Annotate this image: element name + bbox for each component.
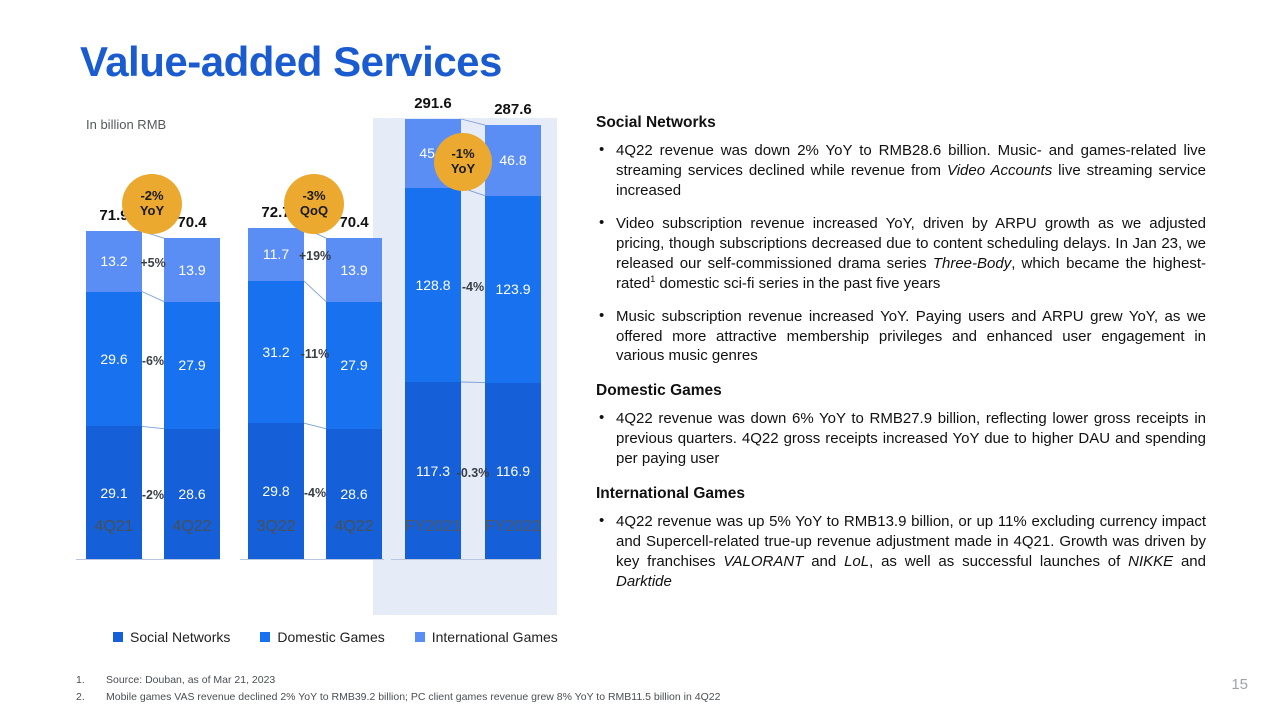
category-label-4q21: 4Q21 xyxy=(69,518,159,536)
legend-item[interactable]: Domestic Games xyxy=(260,629,384,645)
footnote-number: 1. xyxy=(76,672,106,689)
growth-callout-qoq-quarter: -3%QoQ xyxy=(284,174,344,234)
callout-percent: -1% xyxy=(451,147,474,162)
body-text: Music subscription revenue increased YoY… xyxy=(616,308,1206,365)
footnote-text: Mobile games VAS revenue declined 2% YoY… xyxy=(106,689,720,706)
legend-swatch-icon xyxy=(415,632,425,642)
delta-label-dom: -11% xyxy=(292,347,338,361)
legend-label: Social Networks xyxy=(130,629,230,645)
bar-total-label: 291.6 xyxy=(393,95,473,112)
section-heading: International Games xyxy=(596,485,1206,503)
emphasis-text: LoL xyxy=(844,553,869,570)
emphasis-text: Three-Body xyxy=(933,255,1011,272)
footnote-row: 1.Source: Douban, as of Mar 21, 2023 xyxy=(76,672,1136,689)
bullet-item: Music subscription revenue increased YoY… xyxy=(596,307,1206,367)
delta-label-soc: -0.3% xyxy=(450,466,496,480)
bullet-item: 4Q22 revenue was down 6% YoY to RMB27.9 … xyxy=(596,409,1206,469)
segment-value-label: 31.2 xyxy=(262,344,289,360)
legend-label: International Games xyxy=(432,629,558,645)
segment-value-label: 27.9 xyxy=(340,357,367,373)
bullet-list: 4Q22 revenue was up 5% YoY to RMB13.9 bi… xyxy=(596,512,1206,592)
bar-4q22-qoq: 13.927.928.6 xyxy=(326,238,382,559)
commentary-panel: Social Networks4Q22 revenue was down 2% … xyxy=(596,114,1206,592)
chart-baseline xyxy=(240,559,384,560)
callout-period: YoY xyxy=(451,162,475,177)
page-title: Value-added Services xyxy=(80,38,502,86)
bullet-list: 4Q22 revenue was down 6% YoY to RMB27.9 … xyxy=(596,409,1206,469)
legend-swatch-icon xyxy=(260,632,270,642)
footnotes: 1.Source: Douban, as of Mar 21, 20232.Mo… xyxy=(76,672,1136,706)
section-heading: Domestic Games xyxy=(596,382,1206,400)
bullet-item: 4Q22 revenue was down 2% YoY to RMB28.6 … xyxy=(596,141,1206,201)
body-text: domestic sci-fi series in the past five … xyxy=(655,275,940,292)
body-text: , as well as successful launches of xyxy=(869,553,1128,570)
legend-swatch-icon xyxy=(113,632,123,642)
emphasis-text: Video Accounts xyxy=(947,162,1052,179)
stacked-bar-chart: 13.229.629.171.94Q2113.927.928.670.44Q22… xyxy=(76,118,562,618)
segment-value-label: 29.6 xyxy=(100,351,127,367)
body-text: and xyxy=(1173,553,1206,570)
segment-value-label: 117.3 xyxy=(416,463,450,479)
chart-legend: Social NetworksDomestic GamesInternation… xyxy=(113,629,558,645)
callout-percent: -3% xyxy=(302,189,325,204)
category-label-4q22: 4Q22 xyxy=(309,518,399,536)
page-number: 15 xyxy=(1231,676,1248,693)
category-label-3q22: 3Q22 xyxy=(231,518,321,536)
bar-3q22: 11.731.229.8 xyxy=(248,228,304,559)
bar-4q22: 13.927.928.6 xyxy=(164,238,220,559)
segment-value-label: 28.6 xyxy=(340,486,367,502)
growth-callout-yoy-quarter: -2%YoY xyxy=(122,174,182,234)
segment-value-label: 11.7 xyxy=(263,246,289,262)
delta-label-soc: -2% xyxy=(130,488,176,502)
segment-value-label: 13.9 xyxy=(340,262,367,278)
bar-fy2022: 46.8123.9116.9 xyxy=(485,125,541,559)
chart-baseline xyxy=(76,559,220,560)
body-text: and xyxy=(803,553,844,570)
delta-label-dom: -4% xyxy=(450,280,496,294)
bar-segment-dom: 27.9 xyxy=(326,302,382,429)
segment-value-label: 29.8 xyxy=(262,483,289,499)
category-label-fy2021: FY2021 xyxy=(388,518,478,536)
chart-group-full-year: 45.5128.8117.3291.6FY202146.8123.9116.92… xyxy=(391,160,541,560)
delta-label-intl: +5% xyxy=(130,256,176,270)
segment-value-label: 128.8 xyxy=(415,277,450,293)
growth-callout-full-year: -1%YoY xyxy=(434,133,492,191)
segment-value-label: 116.9 xyxy=(496,463,530,479)
footnote-number: 2. xyxy=(76,689,106,706)
delta-label-soc: -4% xyxy=(292,486,338,500)
emphasis-text: NIKKE xyxy=(1128,553,1173,570)
footnote-text: Source: Douban, as of Mar 21, 2023 xyxy=(106,672,275,689)
delta-label-dom: -6% xyxy=(130,354,176,368)
legend-item[interactable]: International Games xyxy=(415,629,558,645)
callout-period: QoQ xyxy=(300,204,328,219)
body-text: 4Q22 revenue was down 6% YoY to RMB27.9 … xyxy=(616,410,1206,467)
emphasis-text: Darktide xyxy=(616,573,672,590)
legend-label: Domestic Games xyxy=(277,629,384,645)
legend-item[interactable]: Social Networks xyxy=(113,629,230,645)
footnote-row: 2.Mobile games VAS revenue declined 2% Y… xyxy=(76,689,1136,706)
bullet-item: Video subscription revenue increased YoY… xyxy=(596,214,1206,294)
callout-period: YoY xyxy=(140,204,164,219)
category-label-4q22: 4Q22 xyxy=(147,518,237,536)
emphasis-text: VALORANT xyxy=(723,553,803,570)
segment-value-label: 28.6 xyxy=(178,486,205,502)
slide-canvas: Value-added Services In billion RMB 13.2… xyxy=(0,0,1280,720)
segment-value-label: 29.1 xyxy=(100,485,127,501)
chart-baseline xyxy=(391,559,541,560)
bullet-list: 4Q22 revenue was down 2% YoY to RMB28.6 … xyxy=(596,141,1206,366)
bar-4q21: 13.229.629.1 xyxy=(86,231,142,559)
segment-value-label: 13.9 xyxy=(178,262,205,278)
segment-value-label: 13.2 xyxy=(100,253,127,269)
segment-value-label: 123.9 xyxy=(495,281,530,297)
bar-total-label: 287.6 xyxy=(473,101,553,118)
section-heading: Social Networks xyxy=(596,114,1206,132)
callout-percent: -2% xyxy=(140,189,163,204)
segment-value-label: 27.9 xyxy=(178,357,205,373)
bar-segment-intl: 13.9 xyxy=(326,238,382,301)
category-label-fy2022: FY2022 xyxy=(468,518,558,536)
segment-value-label: 46.8 xyxy=(499,152,526,168)
delta-label-intl: +19% xyxy=(292,249,338,263)
bullet-item: 4Q22 revenue was up 5% YoY to RMB13.9 bi… xyxy=(596,512,1206,592)
